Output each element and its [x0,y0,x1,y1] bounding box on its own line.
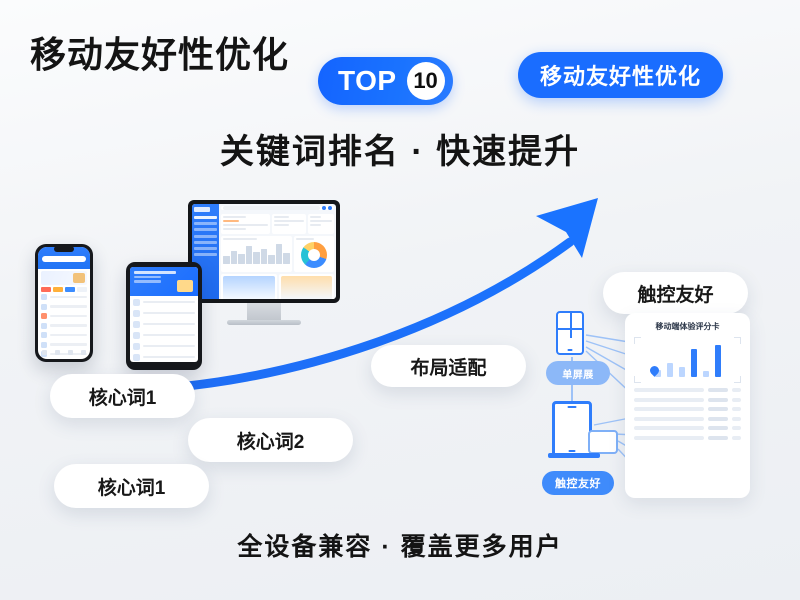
dashboard-ui [192,204,336,299]
desktop-monitor-mockup [188,200,340,325]
tab-icon [53,287,63,292]
list-item [133,354,195,361]
dashboard-area-card-1 [221,274,276,299]
dashboard-donut-card [294,236,334,272]
tabbar-icon [55,350,60,355]
diagram-pill-single-screen[interactable]: 单屏展 [546,361,610,385]
mobile-score-card: 移动端体验评分卡 [625,313,750,498]
dashboard-main [219,204,336,299]
score-card-chart [634,337,741,383]
area-chart [223,276,274,299]
phone-screen [38,247,90,359]
callout-layout-adaptation[interactable]: 布局适配 [371,345,526,387]
tabbar-icon [68,350,73,355]
table-row [634,398,741,402]
diagram-pill-touch-friendly[interactable]: 触控友好 [542,471,614,495]
donut-chart [301,242,327,268]
list-item [133,310,195,317]
list-item [133,332,195,339]
dashboard-topbar [221,206,334,210]
list-item [133,321,195,328]
top-badge-label: TOP [338,65,397,97]
footer-tagline: 全设备兼容 · 覆盖更多用户 [0,527,800,563]
dashboard-bell-icon [328,206,332,210]
device-mockups [25,188,345,383]
header-tag-pill: 移动友好性优化 [518,52,723,98]
list-item [38,313,90,319]
list-item [133,299,195,306]
table-row [634,388,741,392]
dashboard-info-card [308,214,334,234]
keyword-pill-2[interactable]: 核心词2 [188,418,353,462]
dashboard-chart-row [221,236,334,272]
top-rank-badge: TOP 10 [318,57,453,105]
mobile-experience-diagram: 单屏展 触控友好 移动端体验评分卡 [540,305,790,505]
dashboard-nav-item [194,247,217,250]
list-item [38,304,90,310]
phone-device-icon [552,401,592,457]
dashboard-area-card-2 [279,274,334,299]
tablet-list [130,296,198,363]
list-item [38,294,90,300]
dashboard-search-input [223,206,320,210]
list-item [38,332,90,338]
phone-mockup [35,244,93,362]
monitor-stand [247,303,281,320]
tabbar-icon [42,350,47,355]
monitor-screen [188,200,340,303]
laptop-device-icon [588,430,618,454]
page-subtitle: 关键词排名 · 快速提升 [0,124,800,173]
laptop-base [548,453,600,458]
table-row [634,426,741,430]
dashboard-nav-item [194,228,217,231]
keyword-pill-3[interactable]: 核心词1 [54,464,209,508]
monitor-base [227,320,301,325]
table-row [634,417,741,421]
tab-icon [65,287,75,292]
keyword-pill-1[interactable]: 核心词1 [50,374,195,418]
dashboard-logo [194,207,210,212]
bar-chart [223,242,289,264]
dashboard-area-row [221,274,334,299]
tab-icon [77,287,87,292]
phone-promo-image [73,273,85,283]
page-title: 移动友好性优化 [30,26,289,78]
score-card-title: 移动端体验评分卡 [634,321,741,332]
dashboard-nav-item [194,241,217,244]
tabbar-icon [81,350,86,355]
dashboard-stat-card [272,214,305,234]
dashboard-avatar [322,206,326,210]
dashboard-filter-card [221,214,270,234]
phone-split-screen-icon [556,311,584,355]
tab-icon [41,287,51,292]
phone-tabbar [38,350,90,355]
dashboard-nav-item [194,253,217,256]
phone-category-tabs [38,287,90,292]
tablet-hero-image [177,280,193,292]
tablet-hero-banner [130,267,198,296]
tablet-mockup [126,262,202,370]
top-badge-number: 10 [407,62,445,100]
dashboard-nav-item [194,216,217,219]
area-chart [281,276,332,299]
dashboard-card-row [221,214,334,234]
dashboard-bar-chart-card [221,236,291,272]
table-row [634,436,741,440]
list-item [38,323,90,329]
dashboard-nav-item [194,235,217,238]
table-row [634,407,741,411]
tablet-screen [130,267,198,362]
phone-notch [54,246,74,252]
list-item [133,343,195,350]
dashboard-nav-item [194,222,217,225]
list-item [38,342,90,348]
phone-promo-card [41,271,87,285]
phone-search-input [42,256,86,262]
poster-canvas: 移动友好性优化 TOP 10 移动友好性优化 关键词排名 · 快速提升 [0,0,800,600]
